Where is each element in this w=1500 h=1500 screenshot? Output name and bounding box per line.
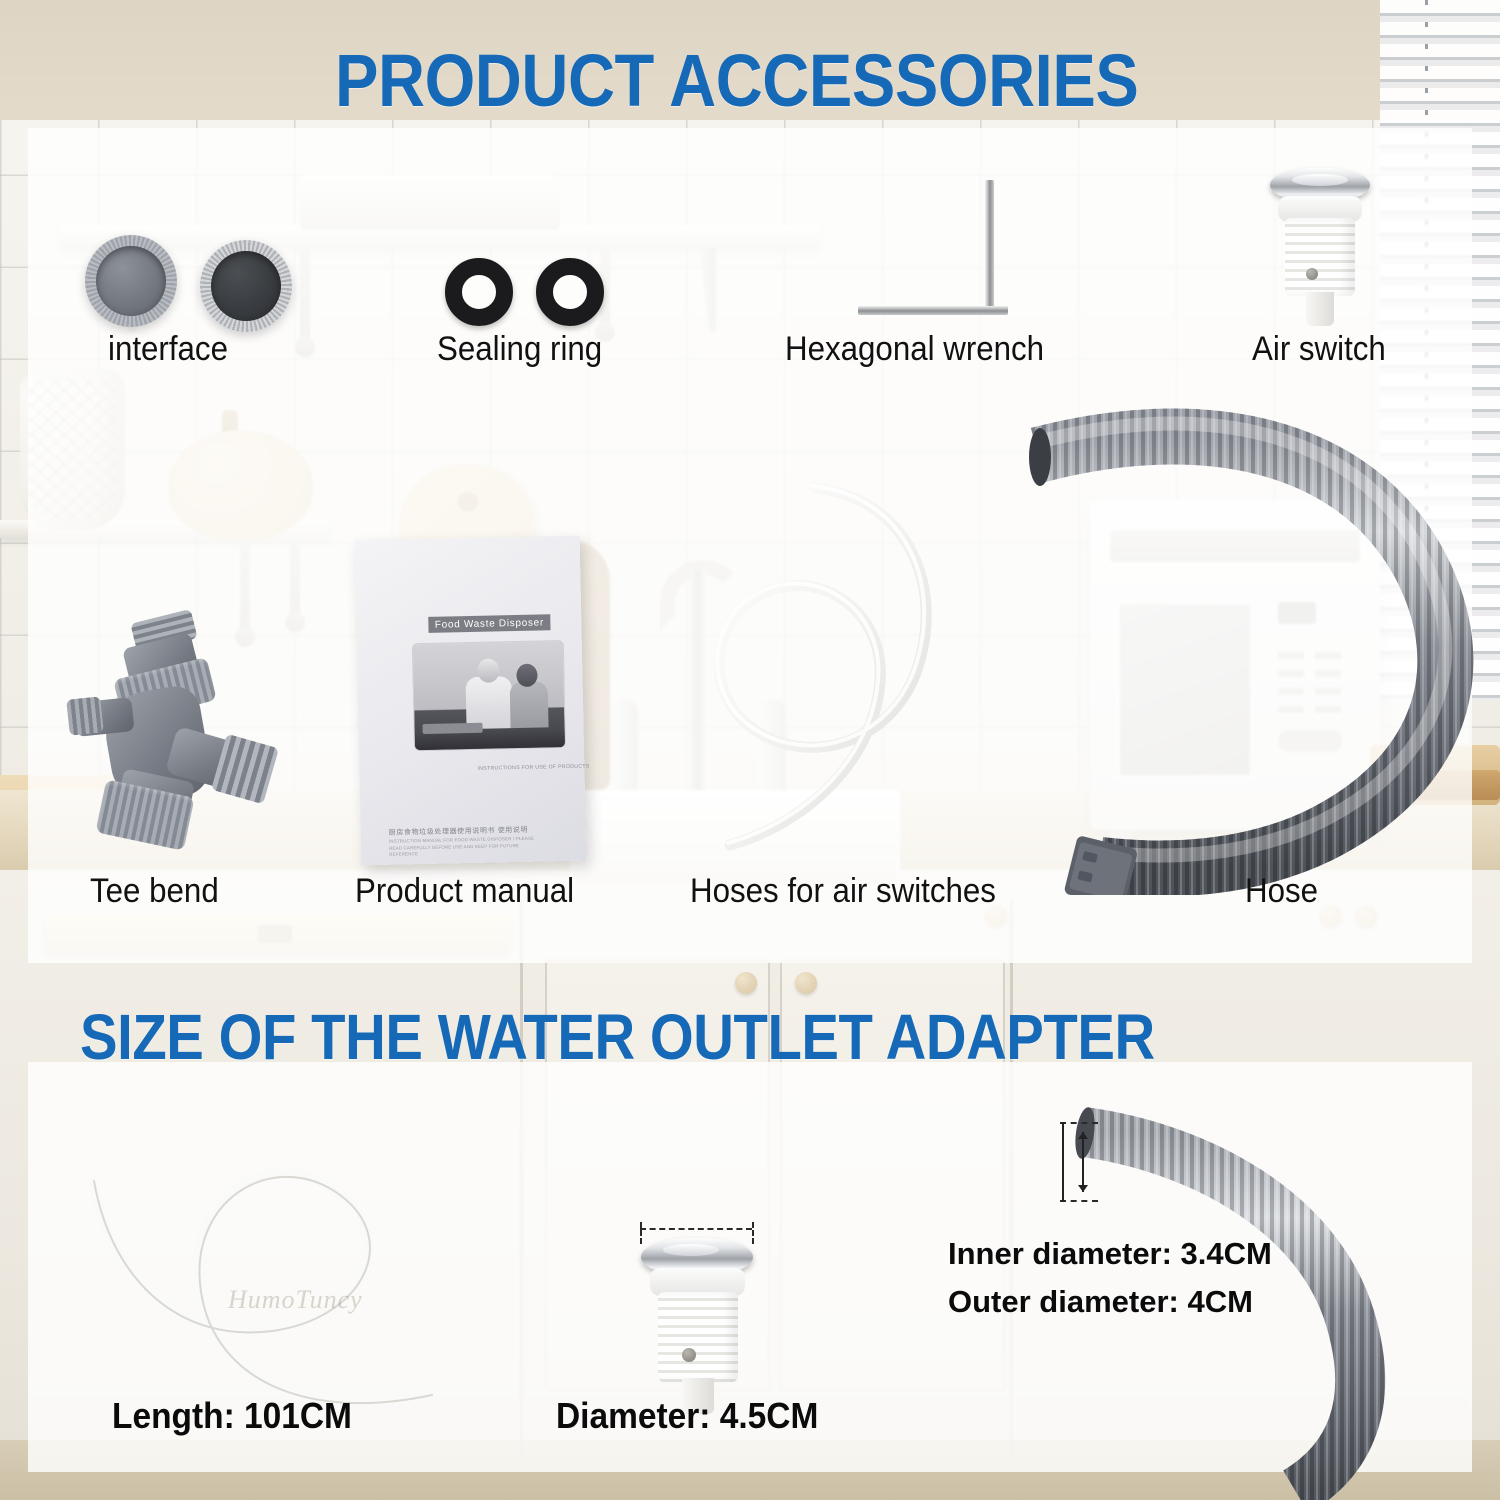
- air-switch-dim-tick-left: [640, 1222, 642, 1244]
- hose-outer-dim-line: [1062, 1122, 1064, 1202]
- rubber-o-ring-icon-1: [445, 258, 513, 326]
- clear-tube-length-icon: [70, 1130, 490, 1420]
- air-switch-threaded-body-icon: [1285, 218, 1355, 296]
- page-title: PRODUCT ACCESSORIES: [335, 38, 1138, 123]
- label-hexagonal-wrench: Hexagonal wrench: [785, 330, 1044, 369]
- air-switch-dim-tick-right: [752, 1222, 754, 1244]
- label-hoses-for-air-switches: Hoses for air switches: [690, 872, 996, 911]
- manual-footer-en: INSTRUCTION MANUAL FOR FOOD WASTE DISPOS…: [389, 836, 539, 859]
- label-product-manual: Product manual: [355, 872, 574, 911]
- instruction-booklet-icon: Food Waste Disposer INSTRUCTIONS FOR USE…: [355, 536, 587, 866]
- air-switch-port-large-icon: [682, 1348, 696, 1362]
- threaded-interface-ring-icon: [85, 235, 177, 327]
- label-sealing-ring: Sealing ring: [437, 330, 602, 369]
- label-tee-bend: Tee bend: [90, 872, 219, 911]
- cabinet-knob-right: [795, 972, 817, 994]
- allen-key-short-arm-icon: [985, 180, 994, 315]
- air-switch-stem-icon: [1306, 292, 1334, 326]
- label-air-switch: Air switch: [1252, 330, 1386, 369]
- hose-inner-dim-arrow: [1082, 1132, 1084, 1192]
- air-switch-dim-line: [640, 1228, 752, 1230]
- manual-cover-photo: [412, 640, 566, 751]
- threaded-interface-ring-dark-icon: [200, 240, 292, 332]
- spec-switch-diameter: Diameter: 4.5CM: [556, 1395, 818, 1437]
- corrugated-drain-hose-icon: [1020, 395, 1490, 895]
- manual-cover-title: Food Waste Disposer: [428, 614, 550, 633]
- watermark: HumoTuncy: [228, 1285, 363, 1315]
- manual-cover-subtitle: INSTRUCTIONS FOR USE OF PRODUCTS: [477, 764, 589, 772]
- label-interface: interface: [108, 330, 228, 369]
- clear-pneumatic-tube-icon: [690, 470, 970, 860]
- allen-key-long-arm-icon: [858, 306, 1008, 315]
- tee-bend-left-thread-icon: [66, 696, 104, 735]
- hose-outer-dim-bottom: [1060, 1200, 1098, 1202]
- spec-outer-diameter: Outer diameter: 4CM: [948, 1284, 1253, 1320]
- spec-inner-diameter: Inner diameter: 3.4CM: [948, 1236, 1272, 1272]
- label-hose: Hose: [1245, 872, 1318, 911]
- rubber-o-ring-icon-2: [536, 258, 604, 326]
- spec-tube-length: Length: 101CM: [112, 1395, 352, 1437]
- air-switch-port-icon: [1306, 268, 1318, 280]
- air-switch-body-large-icon: [658, 1292, 738, 1382]
- cabinet-knob-left: [735, 972, 757, 994]
- hose-outer-dim-top: [1060, 1122, 1098, 1124]
- size-section-title: SIZE OF THE WATER OUTLET ADAPTER: [80, 1000, 1155, 1074]
